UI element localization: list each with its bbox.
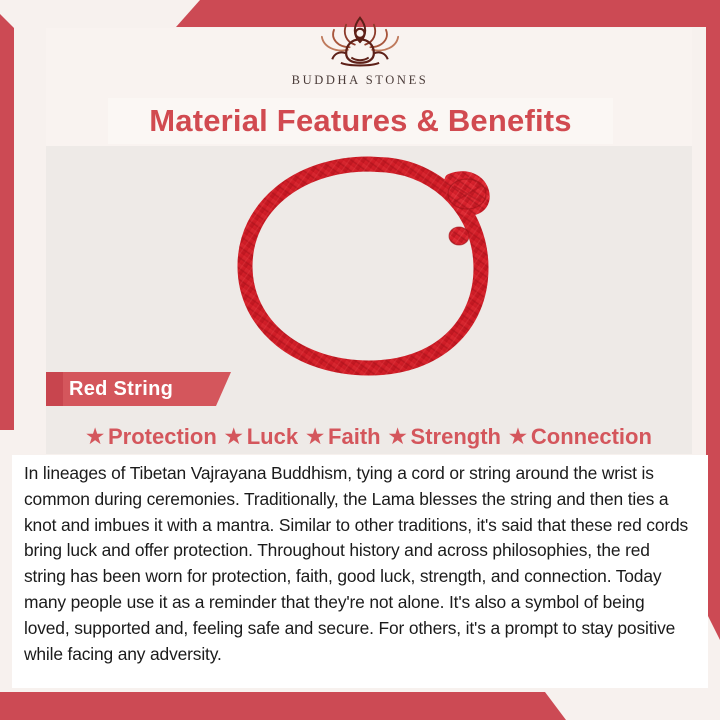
benefit-label: Faith (328, 424, 381, 450)
benefit-item-protection: ★ Protection (82, 424, 221, 450)
product-ribbon: Red String (46, 372, 231, 406)
page-title-text: Material Features & Benefits (149, 103, 572, 139)
benefit-item-luck: ★ Luck (221, 424, 302, 450)
star-icon: ★ (389, 427, 407, 447)
brand-name: BUDDHA STONES (292, 73, 429, 88)
lotus-meditation-icon (308, 14, 412, 70)
benefit-label: Protection (108, 424, 217, 450)
star-icon: ★ (509, 427, 527, 447)
star-icon: ★ (86, 427, 104, 447)
frame-bottom-band (0, 686, 720, 720)
star-icon: ★ (225, 427, 243, 447)
description-text: In lineages of Tibetan Vajrayana Buddhis… (12, 455, 708, 667)
benefit-item-strength: ★ Strength (385, 424, 505, 450)
brand-logo: BUDDHA STONES (0, 14, 720, 88)
benefit-item-connection: ★ Connection (505, 424, 656, 450)
description-block: In lineages of Tibetan Vajrayana Buddhis… (12, 455, 708, 688)
benefit-label: Luck (247, 424, 298, 450)
star-icon: ★ (306, 427, 324, 447)
benefit-item-faith: ★ Faith (302, 424, 385, 450)
infographic-page: BUDDHA STONES Material Features & Benefi… (0, 0, 720, 720)
benefit-label: Connection (531, 424, 652, 450)
benefits-row: ★ Protection ★ Luck ★ Faith ★ Strength ★… (46, 420, 692, 454)
red-string-bracelet-illustration (219, 150, 519, 380)
benefit-label: Strength (411, 424, 501, 450)
ribbon-label: Red String (69, 372, 173, 406)
page-title: Material Features & Benefits (108, 98, 613, 144)
